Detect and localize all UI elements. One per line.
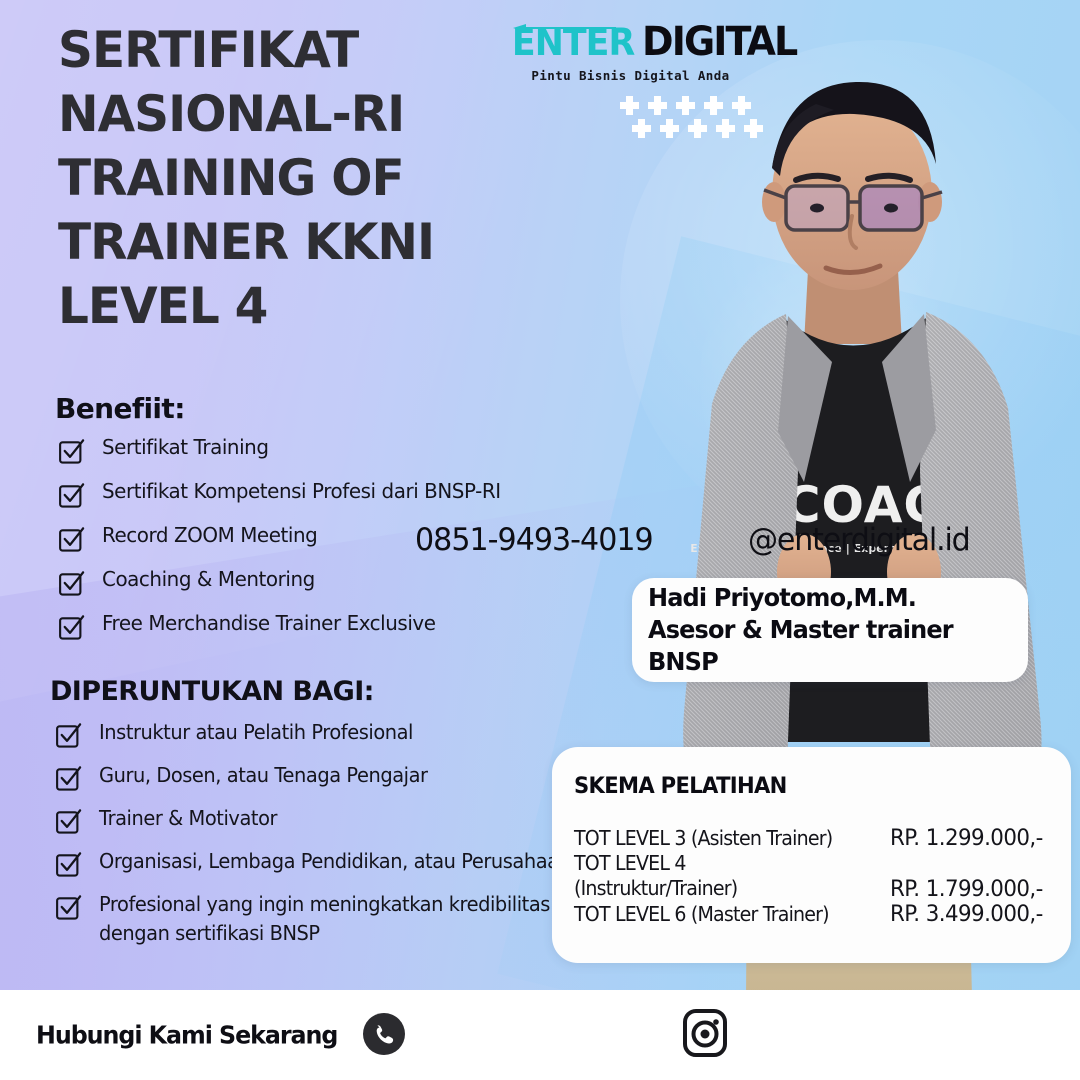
list-item-label: Guru, Dosen, atau Tenaga Pengajar bbox=[99, 761, 428, 790]
table-row: TOT LEVEL 4 (Instruktur/Trainer) RP. 1.7… bbox=[574, 851, 1071, 902]
checkbox-check-icon bbox=[55, 765, 82, 792]
pricing-price: RP. 3.499.000,- bbox=[890, 902, 1043, 927]
target-heading: DIPERUNTUKAN BAGI: bbox=[50, 676, 374, 707]
pricing-label-line1: TOT LEVEL 3 (Asisten Trainer) bbox=[574, 826, 874, 851]
checkbox-check-icon bbox=[58, 438, 85, 465]
headline-line-2: NASIONAL-RI bbox=[58, 82, 562, 146]
table-row: TOT LEVEL 3 (Asisten Trainer) RP. 1.299.… bbox=[574, 826, 1071, 851]
checkbox-check-icon bbox=[58, 614, 85, 641]
headline-line-4: TRAINER KKNI bbox=[58, 210, 562, 274]
list-item: Sertifikat Kompetensi Profesi dari BNSP-… bbox=[58, 478, 603, 509]
checkbox-check-icon bbox=[55, 722, 82, 749]
pricing-label: TOT LEVEL 3 (Asisten Trainer) bbox=[574, 826, 874, 851]
page-title: SERTIFIKAT NASIONAL-RI TRAINING OF TRAIN… bbox=[58, 18, 562, 338]
table-row: TOT LEVEL 6 (Master Trainer) RP. 3.499.0… bbox=[574, 902, 1071, 927]
logo-digital-text: DIGITAL bbox=[642, 20, 796, 65]
checkbox-check-icon bbox=[58, 482, 85, 509]
benefit-heading: Benefiit: bbox=[55, 392, 185, 425]
list-item-label: Record ZOOM Meeting bbox=[102, 522, 317, 549]
checkbox-check-icon bbox=[55, 851, 82, 878]
pricing-label-line1: TOT LEVEL 6 (Master Trainer) bbox=[574, 902, 874, 927]
plus-decoration-icon bbox=[612, 92, 772, 142]
contact-cta-label: Hubungi Kami Sekarang bbox=[36, 1021, 337, 1050]
target-list: Instruktur atau Pelatih Profesional Guru… bbox=[55, 718, 600, 960]
list-item: Coaching & Mentoring bbox=[58, 566, 603, 597]
pricing-card: SKEMA PELATIHAN TOT LEVEL 3 (Asisten Tra… bbox=[552, 747, 1071, 963]
list-item-label: Organisasi, Lembaga Pendidikan, atau Per… bbox=[99, 847, 570, 876]
list-item-label: Sertifikat Training bbox=[102, 434, 269, 461]
list-item-label: Profesional yang ingin meningkatkan kred… bbox=[99, 890, 585, 948]
list-item: Organisasi, Lembaga Pendidikan, atau Per… bbox=[55, 847, 600, 878]
speaker-name-card: Hadi Priyotomo,M.M. Asesor & Master trai… bbox=[632, 578, 1028, 682]
list-item-label: Sertifikat Kompetensi Profesi dari BNSP-… bbox=[102, 478, 501, 505]
poster-canvas: G-COACH Exploration | Experience | Exper… bbox=[0, 0, 1080, 1080]
pricing-title: SKEMA PELATIHAN bbox=[574, 774, 1051, 799]
list-item: Sertifikat Training bbox=[58, 434, 603, 465]
list-item: Guru, Dosen, atau Tenaga Pengajar bbox=[55, 761, 600, 792]
list-item: Profesional yang ingin meningkatkan kred… bbox=[55, 890, 600, 948]
pricing-label-line1: TOT LEVEL 4 bbox=[574, 851, 874, 876]
pricing-label: TOT LEVEL 4 (Instruktur/Trainer) bbox=[574, 851, 874, 901]
list-item-label: Free Merchandise Trainer Exclusive bbox=[102, 610, 436, 637]
checkbox-check-icon bbox=[55, 808, 82, 835]
checkbox-check-icon bbox=[55, 894, 82, 921]
contact-phone-number[interactable]: 0851-9493-4019 bbox=[415, 522, 653, 558]
contact-instagram-handle[interactable]: @enterdigital.id bbox=[748, 522, 970, 558]
pricing-rows: TOT LEVEL 3 (Asisten Trainer) RP. 1.299.… bbox=[574, 826, 1071, 927]
headline-line-3: TRAINING OF bbox=[58, 146, 562, 210]
instagram-icon[interactable] bbox=[679, 1007, 731, 1059]
speaker-name: Hadi Priyotomo,M.M. bbox=[648, 582, 1013, 614]
speaker-role: Asesor & Master trainer BNSP bbox=[648, 614, 1013, 678]
checkbox-check-icon bbox=[58, 526, 85, 553]
pricing-price: RP. 1.299.000,- bbox=[890, 826, 1043, 851]
list-item-label: Coaching & Mentoring bbox=[102, 566, 315, 593]
pricing-label-line2: (Instruktur/Trainer) bbox=[574, 876, 874, 901]
list-item: Trainer & Motivator bbox=[55, 804, 600, 835]
checkbox-check-icon bbox=[58, 570, 85, 597]
list-item: Free Merchandise Trainer Exclusive bbox=[58, 610, 603, 641]
phone-icon[interactable] bbox=[362, 1012, 406, 1056]
list-item-label: Trainer & Motivator bbox=[99, 804, 277, 833]
headline-line-1: SERTIFIKAT bbox=[58, 18, 562, 82]
list-item-label: Instruktur atau Pelatih Profesional bbox=[99, 718, 413, 747]
headline-line-5: LEVEL 4 bbox=[58, 274, 562, 338]
contact-bar: Hubungi Kami Sekarang bbox=[0, 990, 1080, 1080]
pricing-label: TOT LEVEL 6 (Master Trainer) bbox=[574, 902, 874, 927]
list-item: Instruktur atau Pelatih Profesional bbox=[55, 718, 600, 749]
pricing-price: RP. 1.799.000,- bbox=[890, 851, 1043, 902]
